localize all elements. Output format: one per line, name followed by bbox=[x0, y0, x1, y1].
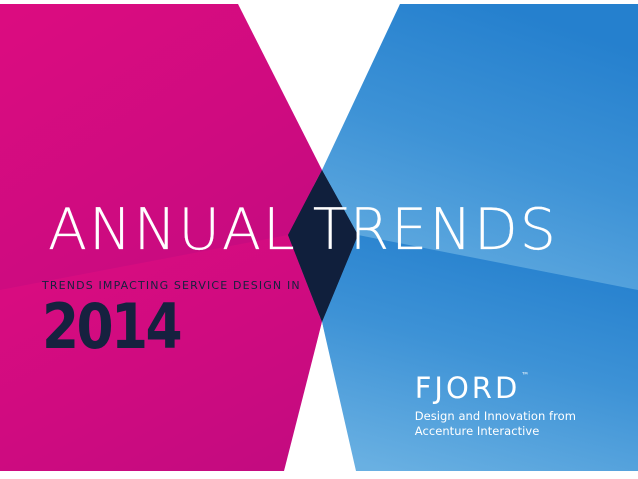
headline-word-trends: TRENDS bbox=[313, 197, 558, 263]
slide-year: 2014 bbox=[42, 296, 180, 358]
fjord-wordmark: FJORD™ bbox=[415, 374, 576, 403]
fjord-wordmark-text: FJORD bbox=[415, 371, 521, 405]
fjord-tagline-line-2: Accenture Interactive bbox=[415, 424, 576, 439]
slide-headline: ANNUALTRENDS bbox=[48, 202, 608, 259]
trademark-icon: ™ bbox=[521, 372, 529, 380]
fjord-tagline: Design and Innovation from Accenture Int… bbox=[415, 409, 576, 438]
bottom-white-band bbox=[0, 471, 638, 479]
top-white-band bbox=[0, 0, 638, 4]
title-slide: ANNUALTRENDS TRENDS IMPACTING SERVICE DE… bbox=[0, 0, 638, 479]
fjord-tagline-line-1: Design and Innovation from bbox=[415, 409, 576, 424]
headline-word-annual: ANNUAL bbox=[48, 197, 297, 263]
fjord-logo-lockup: FJORD™ Design and Innovation from Accent… bbox=[415, 374, 576, 438]
